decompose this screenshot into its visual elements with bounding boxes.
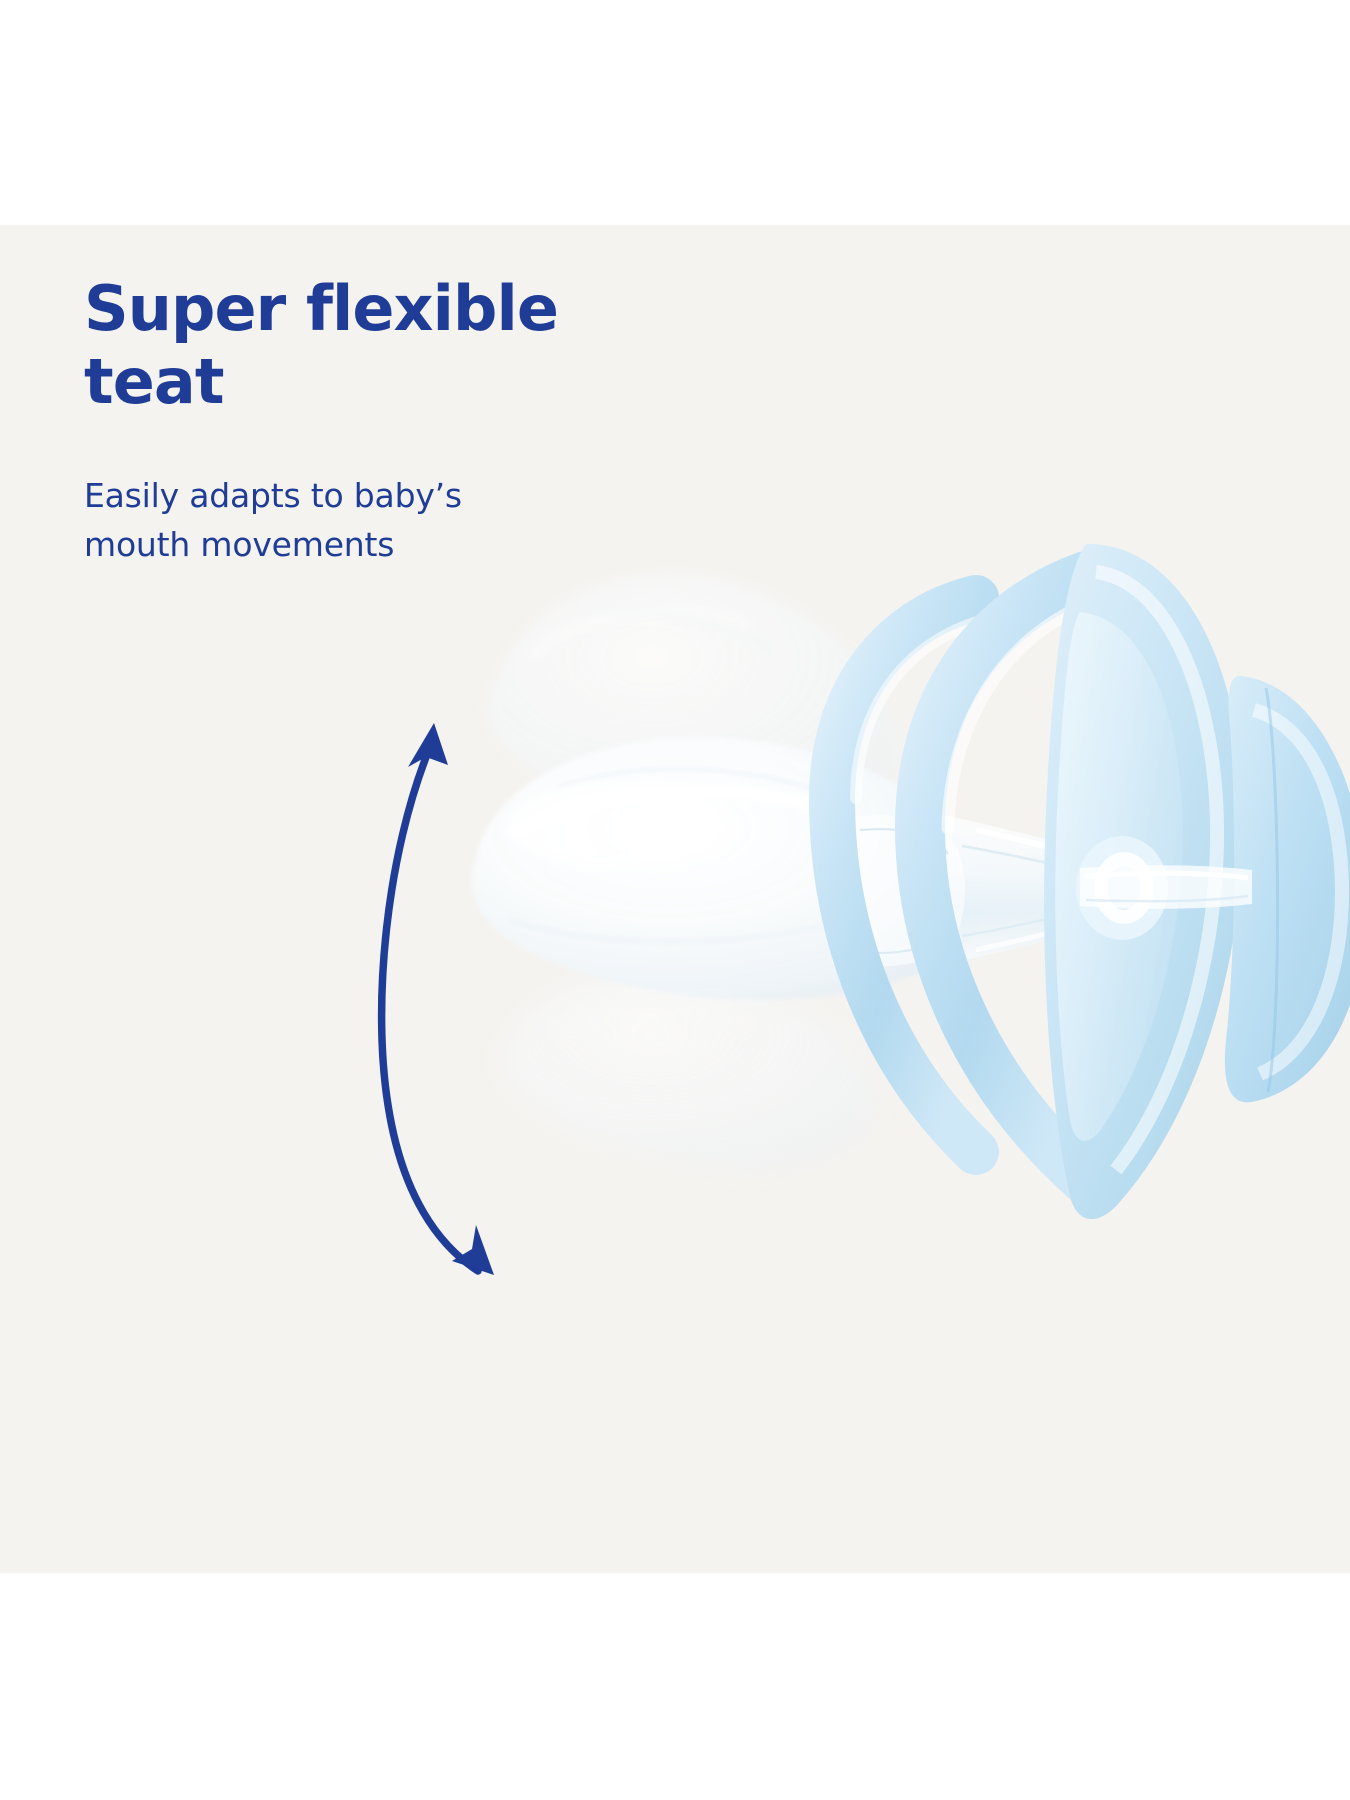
teat-ghost-lower <box>499 971 878 1172</box>
promo-frame: Super flexible teat Easily adapts to bab… <box>0 0 1350 1800</box>
subtitle-line-2: mouth movements <box>84 521 704 570</box>
page-title: Super flexible teat <box>84 273 704 418</box>
headline-block: Super flexible teat Easily adapts to bab… <box>84 273 704 569</box>
stem-through-shield <box>1080 865 1252 909</box>
subtitle: Easily adapts to baby’s mouth movements <box>84 418 704 569</box>
headline-line-2: teat <box>84 346 704 419</box>
product-image <box>380 480 1350 1310</box>
subtitle-line-1: Easily adapts to baby’s <box>84 472 704 521</box>
headline-line-1: Super flexible <box>84 273 704 346</box>
promo-panel: Super flexible teat Easily adapts to bab… <box>0 225 1350 1573</box>
